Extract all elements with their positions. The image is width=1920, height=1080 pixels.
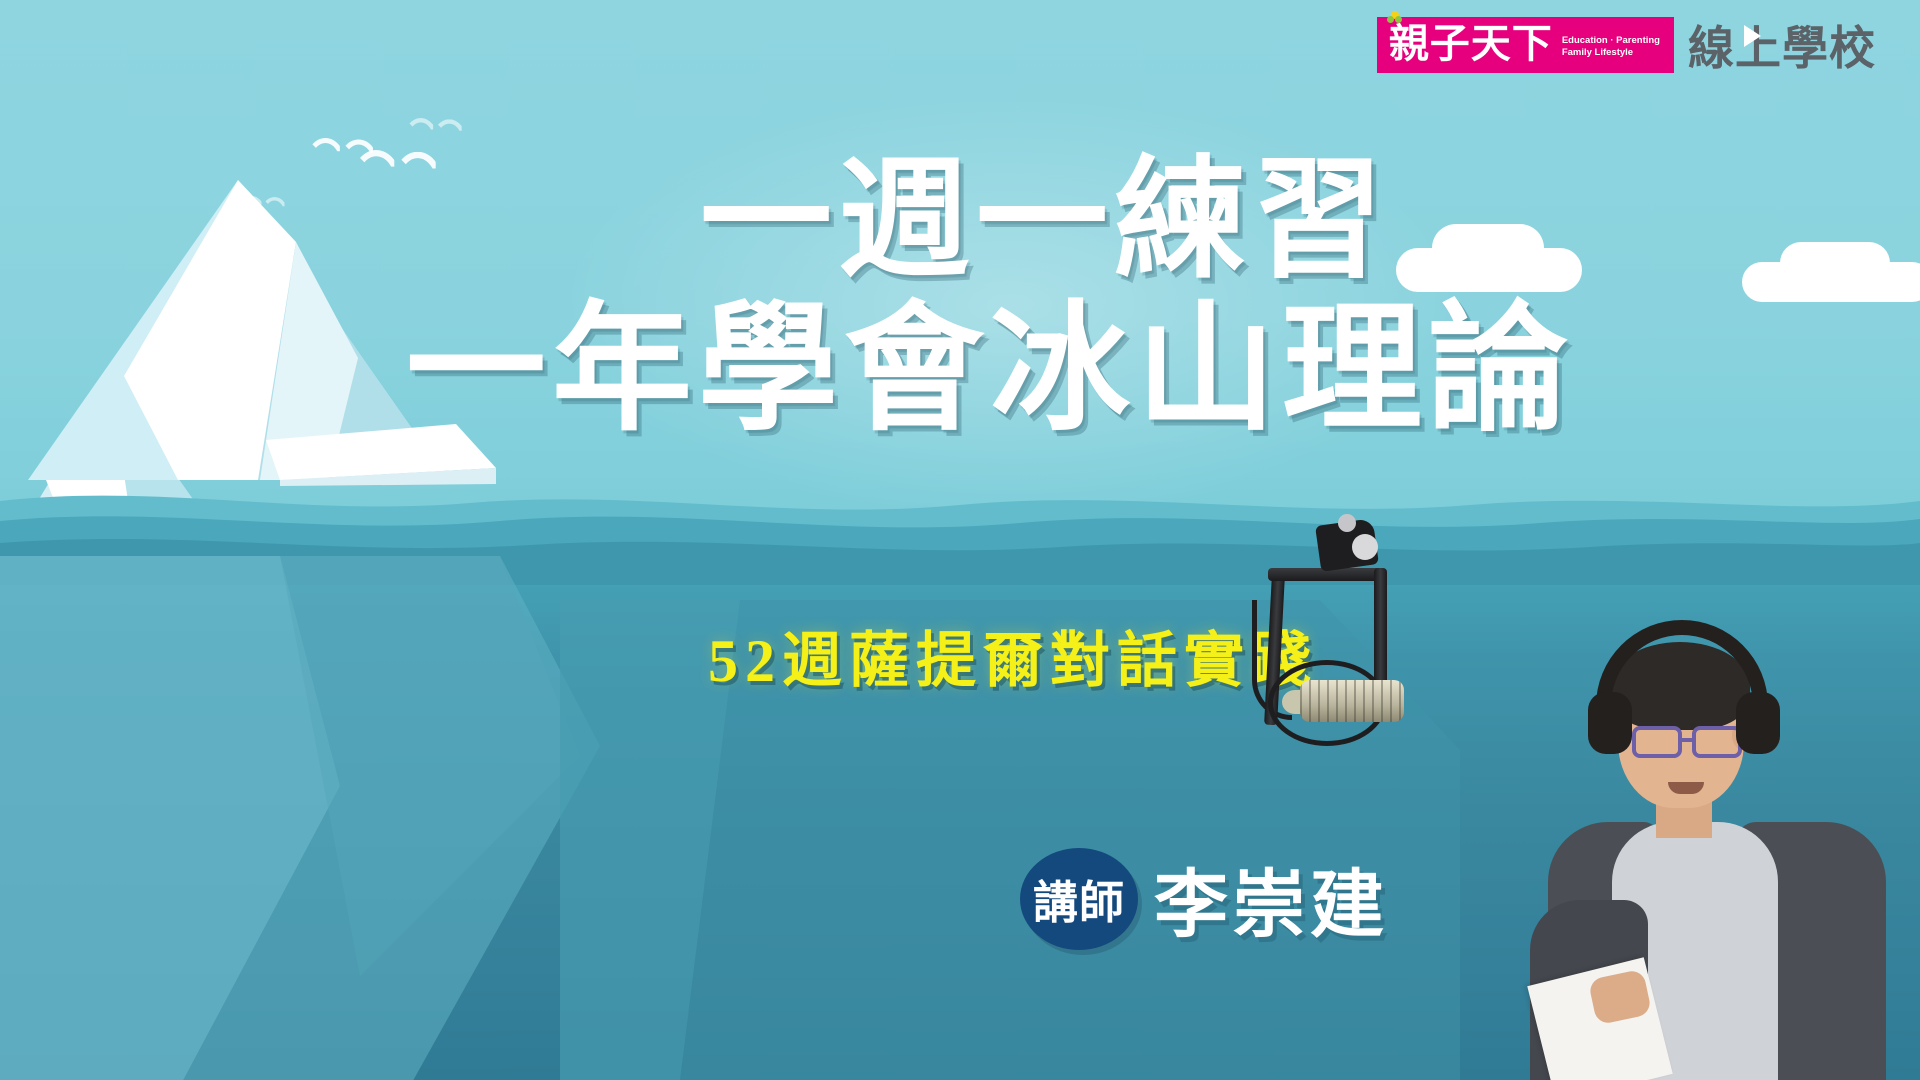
title-line-1: 一週一練習 bbox=[0, 150, 1920, 291]
publisher-name: 親子天下 bbox=[1389, 24, 1553, 64]
glasses-lens-left bbox=[1632, 726, 1682, 758]
instructor-block: 講師 李崇建 bbox=[1020, 845, 1388, 952]
mic-adjust-knob bbox=[1352, 534, 1378, 560]
instructor-photo bbox=[1500, 570, 1920, 1080]
title-line-2: 一年學會冰山理論 bbox=[0, 297, 1920, 444]
mic-grille bbox=[1300, 680, 1404, 722]
platform-name: 線上學校 bbox=[1688, 12, 1876, 78]
instructor-name: 李崇建 bbox=[1154, 845, 1388, 952]
instructor-role-badge: 講師 bbox=[1020, 848, 1138, 950]
mic-adjust-knob-small bbox=[1338, 514, 1356, 532]
play-triangle-icon bbox=[1744, 25, 1761, 47]
glasses-bridge bbox=[1682, 738, 1694, 742]
publisher-tagline: Education · Parenting Family Lifestyle bbox=[1562, 35, 1660, 64]
publisher-logo-box[interactable]: 親子天下 Education · Parenting Family Lifest… bbox=[1377, 17, 1674, 73]
publisher-tagline-line1: Education · Parenting bbox=[1562, 35, 1660, 47]
glasses-lens-right bbox=[1692, 726, 1742, 758]
brand-logo[interactable]: 親子天下 Education · Parenting Family Lifest… bbox=[1377, 12, 1876, 78]
flower-icon bbox=[1387, 11, 1403, 24]
subtitle-text: 52週薩提爾對話實踐 bbox=[708, 628, 1318, 694]
publisher-tagline-line2: Family Lifestyle bbox=[1562, 47, 1660, 59]
mic-arm-vertical-2 bbox=[1374, 568, 1387, 688]
headphone-cup-left bbox=[1588, 692, 1632, 754]
title-block: 一週一練習 一年學會冰山理論 bbox=[0, 150, 1920, 444]
headphone-cup-right bbox=[1736, 692, 1780, 754]
course-promo-banner: 親子天下 Education · Parenting Family Lifest… bbox=[0, 0, 1920, 1080]
instructor-role-label: 講師 bbox=[1033, 866, 1125, 931]
